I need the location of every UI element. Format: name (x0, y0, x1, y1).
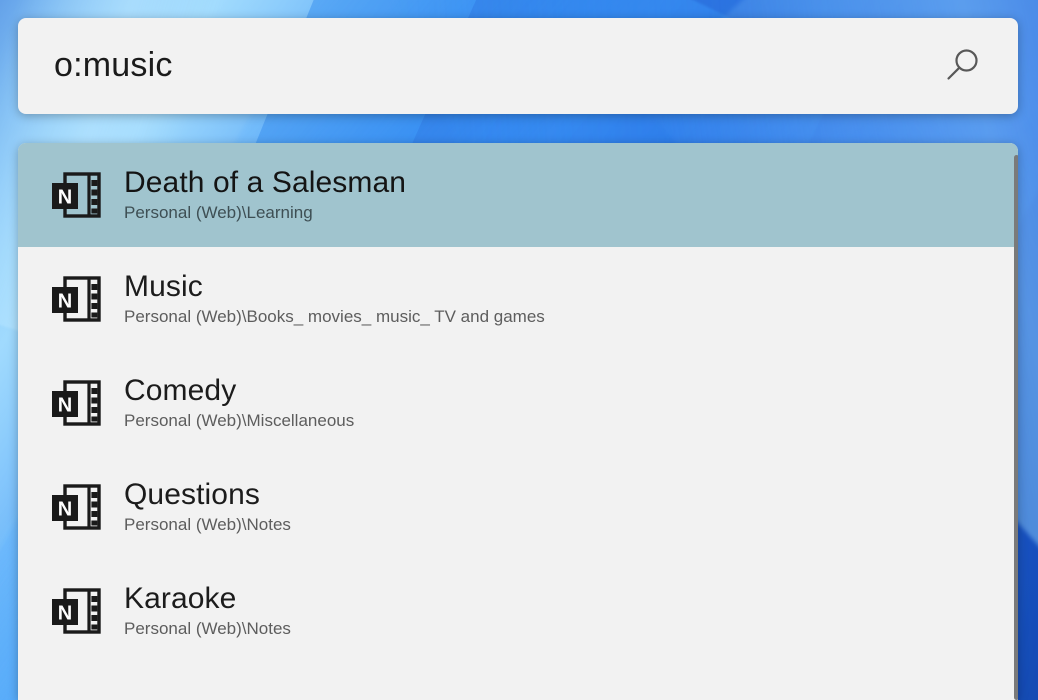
result-title: Music (124, 270, 1018, 304)
search-input[interactable]: o:music (54, 48, 934, 84)
svg-text:N: N (58, 291, 72, 313)
onenote-icon: N (48, 378, 104, 428)
result-text-block: Music Personal (Web)\Books_ movies_ musi… (124, 270, 1018, 329)
result-title: Comedy (124, 374, 1018, 408)
result-row[interactable]: N Comedy Personal (Web)\Miscellaneous (18, 351, 1018, 455)
result-text-block: Questions Personal (Web)\Notes (124, 478, 1018, 537)
result-subtitle: Personal (Web)\Notes (124, 514, 1018, 536)
result-row[interactable]: N Karaoke Personal (Web)\Notes (18, 559, 1018, 663)
result-text-block: Death of a Salesman Personal (Web)\Learn… (124, 166, 1018, 225)
svg-text:N: N (58, 395, 72, 417)
result-subtitle: Personal (Web)\Books_ movies_ music_ TV … (124, 306, 1018, 328)
result-row[interactable]: N Death of a Salesman Personal (Web)\Lea… (18, 143, 1018, 247)
result-subtitle: Personal (Web)\Notes (124, 618, 1018, 640)
result-text-block: Comedy Personal (Web)\Miscellaneous (124, 374, 1018, 433)
result-row[interactable]: N Questions Personal (Web)\Notes (18, 455, 1018, 559)
result-title: Karaoke (124, 582, 1018, 616)
result-text-block: Karaoke Personal (Web)\Notes (124, 582, 1018, 641)
svg-text:N: N (58, 187, 72, 209)
search-icon[interactable] (934, 38, 990, 94)
results-scrollbar[interactable] (1014, 143, 1018, 700)
desktop-background: o:music (0, 0, 1038, 700)
onenote-icon: N (48, 274, 104, 324)
results-list: N Death of a Salesman Personal (Web)\Lea… (18, 143, 1018, 700)
result-row[interactable]: N Music Personal (Web)\Books_ movies_ mu… (18, 247, 1018, 351)
onenote-icon: N (48, 586, 104, 636)
svg-text:N: N (58, 603, 72, 625)
onenote-icon: N (48, 170, 104, 220)
search-bar[interactable]: o:music (18, 18, 1018, 114)
result-subtitle: Personal (Web)\Miscellaneous (124, 410, 1018, 432)
result-title: Questions (124, 478, 1018, 512)
svg-text:N: N (58, 499, 72, 521)
result-title: Death of a Salesman (124, 166, 1018, 200)
search-results-panel: N Death of a Salesman Personal (Web)\Lea… (18, 143, 1018, 700)
scrollbar-thumb[interactable] (1014, 155, 1018, 700)
result-subtitle: Personal (Web)\Learning (124, 202, 1018, 224)
onenote-icon: N (48, 482, 104, 532)
